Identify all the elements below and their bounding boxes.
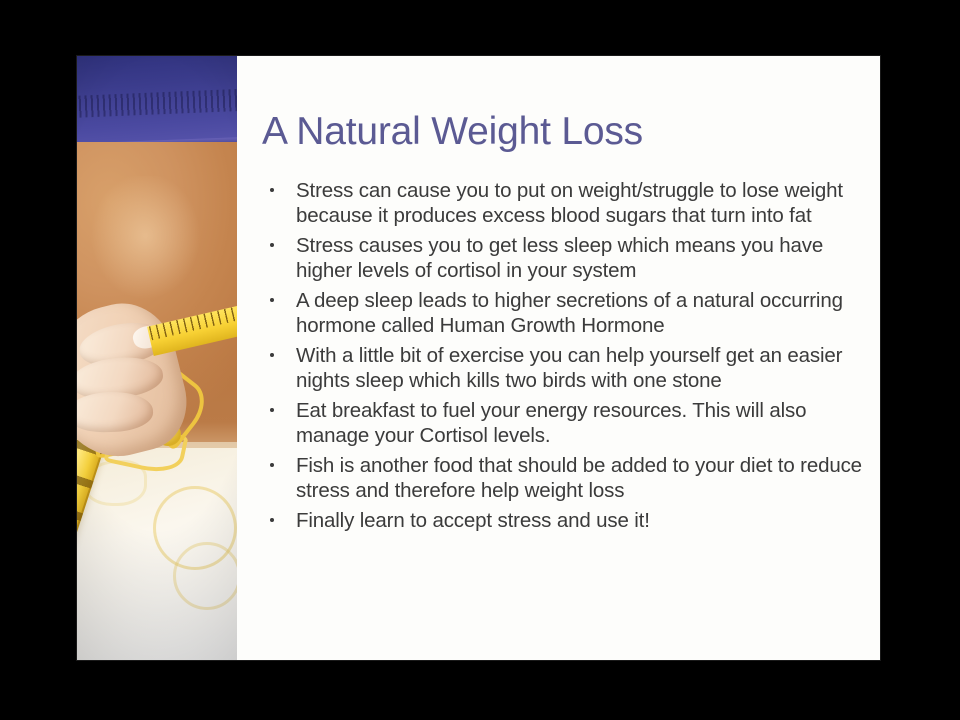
list-item: Eat breakfast to fuel your energy resour…: [263, 398, 863, 448]
list-item-text: Stress can cause you to put on weight/st…: [296, 178, 863, 228]
bullet-dot-icon: [270, 243, 274, 247]
bullet-dot-icon: [270, 408, 274, 412]
bullet-list: Stress can cause you to put on weight/st…: [263, 178, 863, 538]
slide-content: A Natural Weight Loss Stress can cause y…: [237, 56, 880, 660]
skin-highlight: [87, 176, 217, 326]
list-item: With a little bit of exercise you can he…: [263, 343, 863, 393]
list-item: Stress can cause you to put on weight/st…: [263, 178, 863, 228]
page-title: A Natural Weight Loss: [262, 110, 643, 154]
bullet-dot-icon: [270, 518, 274, 522]
list-item-text: Fish is another food that should be adde…: [296, 453, 863, 503]
bullet-dot-icon: [270, 188, 274, 192]
list-item: Fish is another food that should be adde…: [263, 453, 863, 503]
list-item: A deep sleep leads to higher secretions …: [263, 288, 863, 338]
video-letterbox-frame: A Natural Weight Loss Stress can cause y…: [0, 0, 960, 720]
list-item-text: Eat breakfast to fuel your energy resour…: [296, 398, 863, 448]
list-item-text: Stress causes you to get less sleep whic…: [296, 233, 863, 283]
bullet-dot-icon: [270, 463, 274, 467]
floral-swirl-icon: [173, 542, 237, 610]
list-item-text: With a little bit of exercise you can he…: [296, 343, 863, 393]
presentation-slide: A Natural Weight Loss Stress can cause y…: [77, 56, 880, 660]
list-item-text: A deep sleep leads to higher secretions …: [296, 288, 863, 338]
list-item: Stress causes you to get less sleep whic…: [263, 233, 863, 283]
list-item-text: Finally learn to accept stress and use i…: [296, 508, 863, 533]
bullet-dot-icon: [270, 298, 274, 302]
bullet-dot-icon: [270, 353, 274, 357]
list-item: Finally learn to accept stress and use i…: [263, 508, 863, 533]
waist-measurement-photo: [77, 56, 237, 660]
